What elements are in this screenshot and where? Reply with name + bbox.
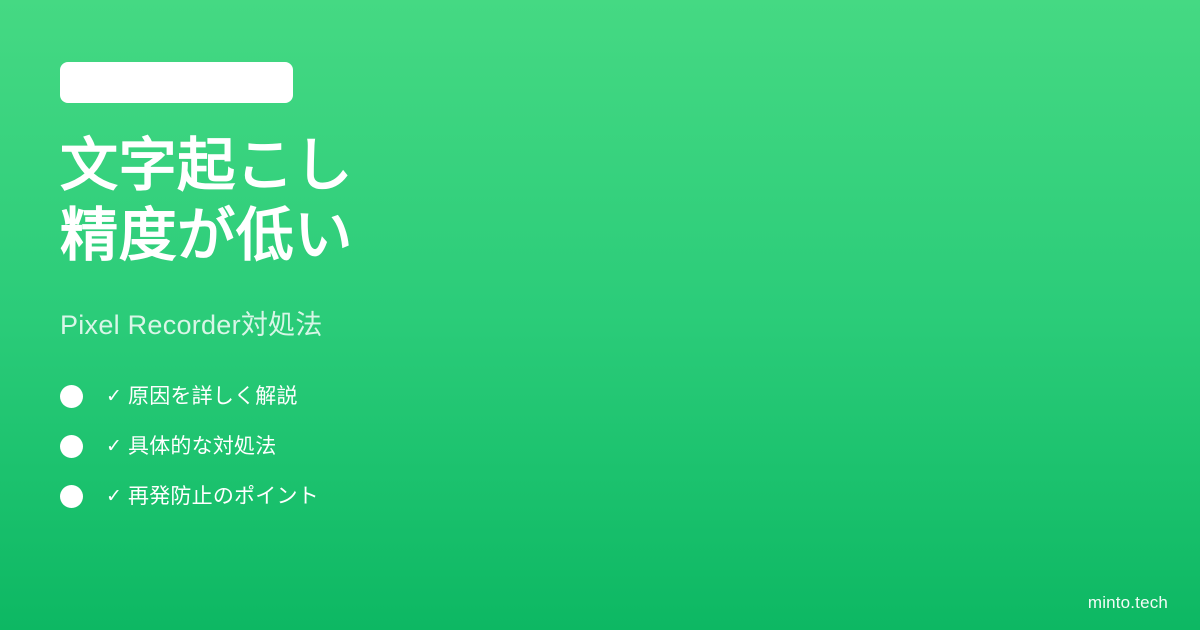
list-item: ✓ 具体的な対処法: [60, 430, 319, 462]
brand-footer: minto.tech: [1088, 593, 1168, 613]
bullet-dot-icon: [60, 485, 83, 508]
check-icon: ✓: [100, 487, 128, 506]
bullet-dot-icon: [60, 385, 83, 408]
list-item-label: 再発防止のポイント: [128, 486, 319, 507]
list-item: ✓ 再発防止のポイント: [60, 480, 319, 512]
list-item: ✓ 原因を詳しく解説: [60, 380, 319, 412]
page-subtitle: Pixel Recorder対処法: [60, 307, 323, 343]
share-card: 文字起こし 精度が低い Pixel Recorder対処法 ✓ 原因を詳しく解説…: [0, 0, 1200, 630]
page-title-line-1: 文字起こし: [60, 131, 353, 201]
check-icon: ✓: [100, 387, 128, 406]
page-title-line-2: 精度が低い: [60, 201, 353, 271]
check-icon: ✓: [100, 437, 128, 456]
page-title: 文字起こし 精度が低い: [60, 131, 353, 271]
category-badge: [60, 62, 293, 103]
list-item-label: 具体的な対処法: [128, 436, 276, 457]
bullet-dot-icon: [60, 435, 83, 458]
highlight-list: ✓ 原因を詳しく解説 ✓ 具体的な対処法 ✓ 再発防止のポイント: [60, 380, 319, 512]
list-item-label: 原因を詳しく解説: [128, 386, 298, 407]
